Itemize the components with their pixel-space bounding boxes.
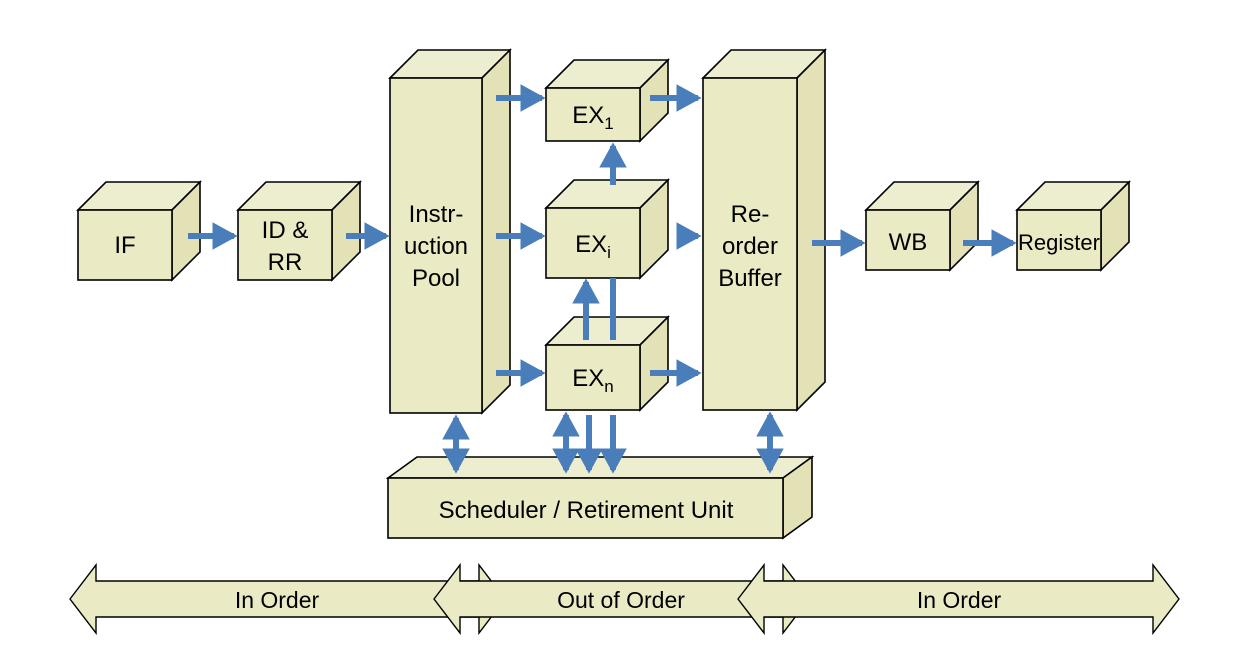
pipeline-diagram: IF ID & RR Instr- uction Pool EX1 EXi <box>0 0 1249 661</box>
stage-instruction-pool[interactable]: Instr- uction Pool <box>390 50 510 413</box>
stage-scheduler[interactable]: Scheduler / Retirement Unit <box>388 457 812 538</box>
instruction-pool-label-line1: Instr- <box>409 201 464 228</box>
reorder-buffer-side-face <box>797 50 825 410</box>
reorder-buffer-label-line3: Buffer <box>718 265 782 292</box>
band-in-order-back-label: In Order <box>917 587 1002 613</box>
stage-wb[interactable]: WB <box>866 182 978 270</box>
reorder-buffer-label-line1: Re- <box>731 201 770 228</box>
stage-reorder-buffer[interactable]: Re- order Buffer <box>703 50 825 410</box>
instruction-pool-label-line3: Pool <box>412 265 460 292</box>
stage-ex-i[interactable]: EXi <box>546 180 668 278</box>
wb-label: WB <box>889 229 928 256</box>
band-in-order-front-label: In Order <box>235 587 320 613</box>
band-out-of-order-label: Out of Order <box>557 587 685 613</box>
register-label: Register <box>1018 230 1100 255</box>
reorder-buffer-label-line2: order <box>722 233 778 260</box>
id-rr-label-line2: RR <box>268 249 303 276</box>
id-rr-label-line1: ID & <box>262 217 309 244</box>
instruction-pool-label-line2: uction <box>404 233 468 260</box>
stage-if[interactable]: IF <box>78 182 200 280</box>
scheduler-top-face <box>388 457 812 478</box>
stage-register[interactable]: Register <box>1017 182 1129 270</box>
ex-i-label: EXi <box>575 231 611 262</box>
instruction-pool-side-face <box>482 50 510 413</box>
stage-ex-n[interactable]: EXn <box>546 317 668 410</box>
stage-ex-1[interactable]: EX1 <box>546 60 668 141</box>
if-label: IF <box>114 232 135 259</box>
stage-id-rr[interactable]: ID & RR <box>238 182 360 280</box>
scheduler-label: Scheduler / Retirement Unit <box>439 497 734 524</box>
